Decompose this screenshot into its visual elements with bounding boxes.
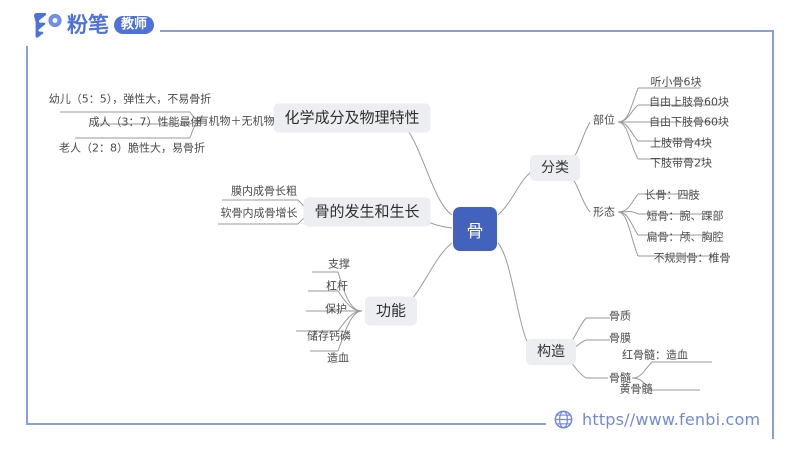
mindmap-canvas: 粉笔 教师 https//www.fenbi.com bbox=[0, 0, 800, 450]
group-by-shape[interactable]: 形态 bbox=[593, 207, 615, 218]
leaf-free-lower-limb[interactable]: 自由下肢骨60块 bbox=[649, 117, 729, 128]
node-organic-inorganic[interactable]: 有机物＋无机物 bbox=[198, 116, 275, 127]
leaf-calcium-storage[interactable]: 储存钙磷 bbox=[307, 331, 351, 342]
leaf-short-bone[interactable]: 短骨：腕、踝部 bbox=[647, 211, 724, 222]
leaf-endochondral[interactable]: 软骨内成骨增长 bbox=[221, 208, 298, 219]
mindmap-center-node[interactable]: 骨 bbox=[453, 207, 497, 251]
leaf-red-marrow[interactable]: 红骨髓：造血 bbox=[622, 350, 688, 361]
leaf-child-ratio[interactable]: 幼儿（5：5），弹性大，不易骨折 bbox=[49, 94, 212, 105]
leaf-bone-tissue[interactable]: 骨质 bbox=[609, 311, 631, 322]
brand-logo: 粉笔 教师 bbox=[32, 12, 154, 38]
leaf-pelvic-girdle[interactable]: 下肢带骨2块 bbox=[650, 158, 712, 169]
leaf-hematopoiesis[interactable]: 造血 bbox=[327, 353, 349, 364]
brand-badge: 教师 bbox=[114, 16, 154, 35]
frame-border-right bbox=[772, 30, 774, 439]
leaf-adult-ratio[interactable]: 成人（3：7）性能最佳 bbox=[89, 117, 202, 128]
leaf-intramembranous[interactable]: 膜内成骨长粗 bbox=[231, 186, 297, 197]
branch-development[interactable]: 骨的发生和生长 bbox=[303, 198, 430, 227]
leaf-flat-bone[interactable]: 扁骨：颅、胸腔 bbox=[647, 232, 724, 243]
branch-structure[interactable]: 构造 bbox=[526, 339, 576, 365]
branch-function[interactable]: 功能 bbox=[365, 297, 417, 326]
leaf-shoulder-girdle[interactable]: 上肢带骨4块 bbox=[650, 138, 712, 149]
leaf-yellow-marrow[interactable]: 黄骨髓 bbox=[620, 384, 653, 395]
leaf-lever[interactable]: 杠杆 bbox=[326, 281, 348, 292]
branch-classification[interactable]: 分类 bbox=[530, 155, 580, 181]
footer-website[interactable]: https//www.fenbi.com bbox=[554, 410, 760, 429]
fenbi-logo-icon bbox=[32, 12, 62, 38]
brand-name: 粉笔 bbox=[67, 15, 109, 36]
leaf-protection[interactable]: 保护 bbox=[325, 304, 347, 315]
leaf-support[interactable]: 支撑 bbox=[328, 259, 350, 270]
leaf-ear-ossicles[interactable]: 听小骨6块 bbox=[651, 77, 702, 88]
footer-url-label: https//www.fenbi.com bbox=[582, 410, 760, 429]
group-by-location[interactable]: 部位 bbox=[593, 115, 615, 126]
globe-icon bbox=[554, 410, 573, 429]
leaf-irregular-bone[interactable]: 不规则骨：椎骨 bbox=[654, 253, 731, 264]
leaf-free-upper-limb[interactable]: 自由上肢骨60块 bbox=[649, 97, 729, 108]
leaf-periosteum[interactable]: 骨膜 bbox=[609, 333, 631, 344]
frame-border-top bbox=[160, 30, 774, 32]
leaf-long-bone[interactable]: 长骨：四肢 bbox=[645, 190, 700, 201]
branch-chemistry[interactable]: 化学成分及物理特性 bbox=[273, 104, 430, 133]
frame-border-bottom bbox=[26, 423, 546, 425]
leaf-elderly-ratio[interactable]: 老人（2：8）脆性大，易骨折 bbox=[59, 143, 205, 154]
frame-border-left bbox=[26, 46, 28, 425]
